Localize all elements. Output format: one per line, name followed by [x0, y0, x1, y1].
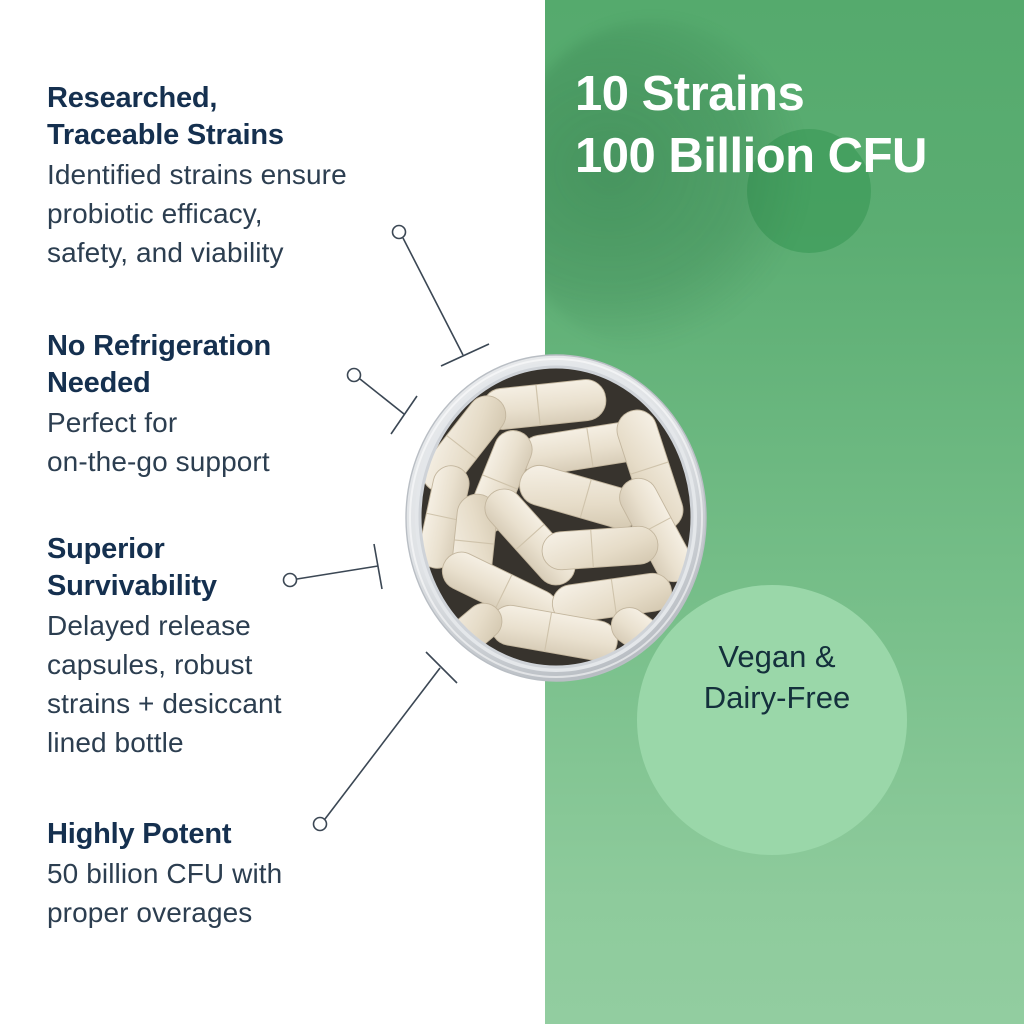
badge-line-dairy-free: Dairy-Free [637, 677, 917, 718]
infographic-canvas: 10 Strains 100 Billion CFU Vegan & Dairy… [0, 0, 1024, 1024]
feature-title-line1: No Refrigeration [47, 330, 271, 362]
feature-body-line1: Identified strains ensure [47, 159, 347, 190]
feature-title-line1: Highly Potent [47, 818, 231, 850]
feature-body-line2: capsules, robust [47, 649, 253, 680]
feature-title-line2: Traceable Strains [47, 119, 284, 151]
feature-body: 50 billion CFU with proper overages [47, 854, 477, 932]
feature-title: No Refrigeration Needed [47, 328, 477, 402]
feature-no-refrigeration-needed: No Refrigeration Needed Perfect for on-t… [47, 328, 477, 481]
vegan-dairy-free-badge-label: Vegan & Dairy-Free [637, 636, 917, 718]
headline-line-cfu: 100 Billion CFU [575, 125, 1015, 187]
feature-title: Researched, Traceable Strains [47, 80, 477, 154]
feature-body: Delayed release capsules, robust strains… [47, 606, 477, 762]
feature-superior-survivability: Superior Survivability Delayed release c… [47, 531, 477, 762]
feature-highly-potent: Highly Potent 50 billion CFU with proper… [47, 816, 477, 932]
feature-body-line2: probiotic efficacy, [47, 198, 263, 229]
feature-title-line2: Survivability [47, 570, 217, 602]
feature-body-line3: safety, and viability [47, 237, 284, 268]
feature-body-line1: Perfect for [47, 407, 177, 438]
headline-line-strains: 10 Strains [575, 63, 1015, 125]
feature-title: Highly Potent [47, 816, 477, 853]
headline-block: 10 Strains 100 Billion CFU [575, 63, 1015, 187]
feature-body-line1: 50 billion CFU with [47, 858, 282, 889]
feature-body: Perfect for on-the-go support [47, 403, 477, 481]
feature-title-line1: Researched, [47, 82, 217, 114]
feature-body-line2: on-the-go support [47, 446, 270, 477]
feature-title-line1: Superior [47, 533, 165, 565]
feature-title: Superior Survivability [47, 531, 477, 605]
feature-researched-traceable-strains: Researched, Traceable Strains Identified… [47, 80, 477, 272]
badge-line-vegan: Vegan & [637, 636, 917, 677]
feature-title-line2: Needed [47, 367, 151, 399]
feature-body: Identified strains ensure probiotic effi… [47, 155, 477, 272]
feature-body-line1: Delayed release [47, 610, 251, 641]
feature-body-line3: strains + desiccant [47, 688, 282, 719]
feature-body-line4: lined bottle [47, 727, 184, 758]
feature-body-line2: proper overages [47, 897, 252, 928]
